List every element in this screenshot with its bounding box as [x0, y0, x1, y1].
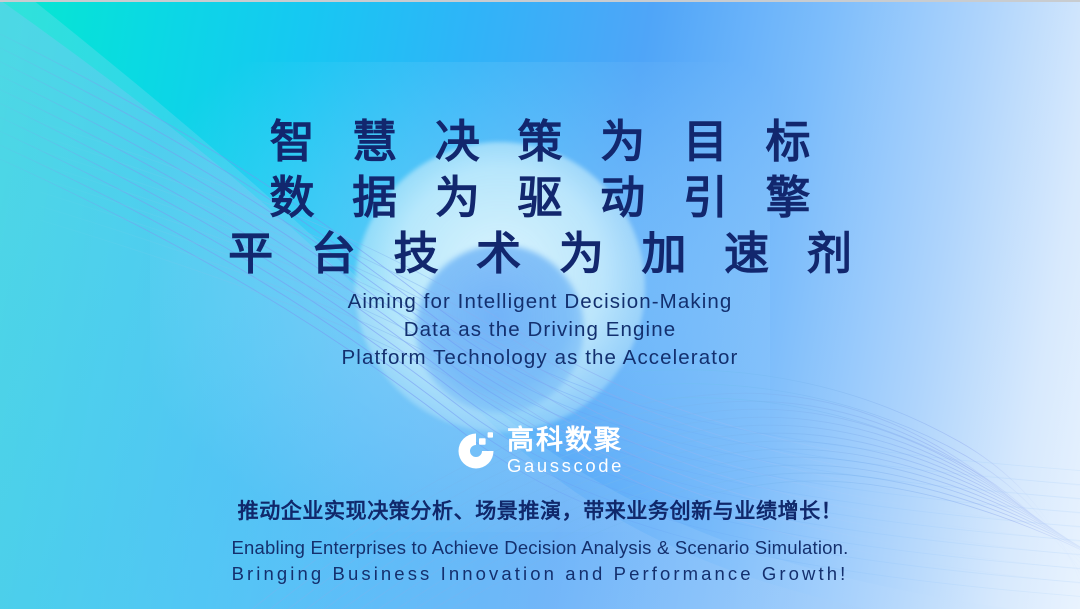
subheadline-line-2: Data as the Driving Engine — [342, 316, 739, 344]
tagline-chinese: 推动企业实现决策分析、场景推演，带来业务创新与业绩增长！ — [238, 495, 843, 525]
subheadline-line-3: Platform Technology as the Accelerator — [342, 344, 739, 372]
brand-name-cn: 高科数聚 — [507, 427, 624, 454]
poster-content: 智 慧 决 策 为 目 标 数 据 为 驱 动 引 擎 平 台 技 术 为 加 … — [0, 2, 1080, 609]
subheadline: Aiming for Intelligent Decision-Making D… — [342, 288, 739, 372]
tagline-english-line-1: Enabling Enterprises to Achieve Decision… — [232, 535, 849, 561]
headline-line-3: 平 台 技 术 为 加 速 剂 — [217, 226, 863, 282]
headline: 智 慧 决 策 为 目 标 数 据 为 驱 动 引 擎 平 台 技 术 为 加 … — [217, 114, 863, 282]
tagline-english-line-2: Bringing Business Innovation and Perform… — [232, 561, 849, 587]
brand-logo: 高科数聚 Gausscode — [456, 427, 624, 475]
promo-poster: 智 慧 决 策 为 目 标 数 据 为 驱 动 引 擎 平 台 技 术 为 加 … — [0, 0, 1080, 609]
headline-line-2: 数 据 为 驱 动 引 擎 — [217, 170, 863, 226]
brand-name-en: Gausscode — [507, 457, 624, 476]
tagline-english: Enabling Enterprises to Achieve Decision… — [232, 535, 849, 587]
subheadline-line-1: Aiming for Intelligent Decision-Making — [342, 288, 739, 316]
headline-line-1: 智 慧 决 策 为 目 标 — [217, 114, 863, 170]
brand-wordmark: 高科数聚 Gausscode — [507, 427, 624, 476]
gausscode-g-monogram-icon — [456, 431, 496, 471]
